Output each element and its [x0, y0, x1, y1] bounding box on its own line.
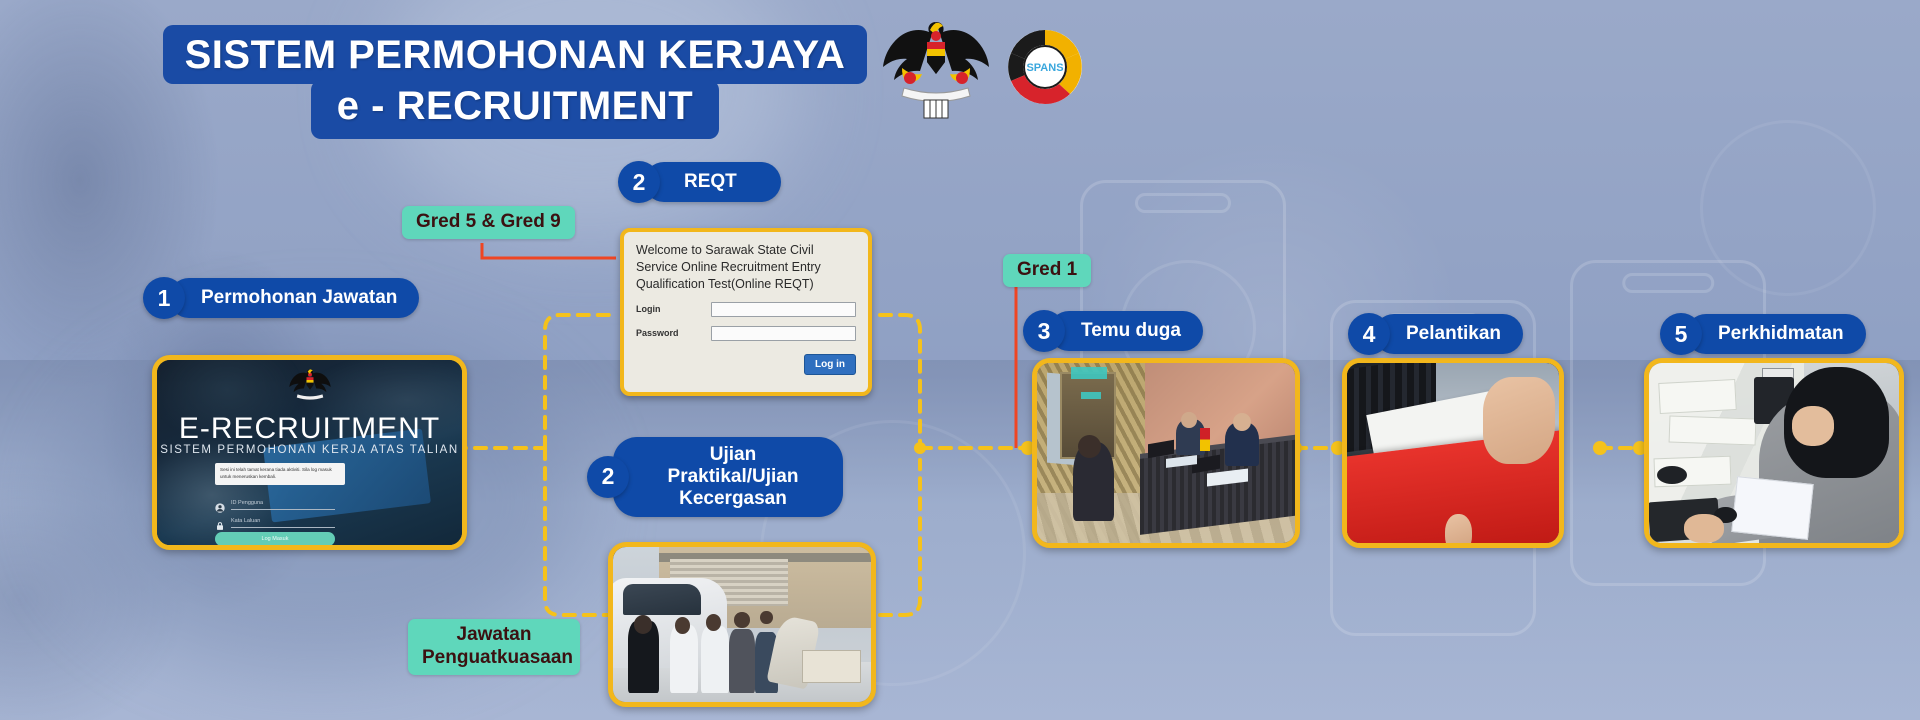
tag-gred-1: Gred 1: [1003, 254, 1091, 287]
reqt-login-button[interactable]: Log in: [804, 354, 856, 375]
erecruitment-user-field[interactable]: ID Pengguna: [215, 500, 335, 510]
erecruitment-password-placeholder: Kata Laluan: [231, 518, 335, 528]
step-label-ujian-praktikal: Ujian Praktikal/Ujian Kecergasan: [613, 437, 843, 517]
step-pill-1[interactable]: 1 Permohonan Jawatan: [143, 277, 419, 319]
user-icon: [215, 500, 225, 510]
practical-test-photo: [613, 547, 871, 702]
card-erecruitment[interactable]: E-RECRUITMENT SISTEM PERMOHONAN KERJA AT…: [152, 355, 467, 550]
offer-letter-thumb: [1445, 514, 1473, 548]
reqt-password-label: Password: [636, 328, 711, 338]
step-pill-2-reqt[interactable]: 2 REQT: [618, 161, 781, 203]
step-label-reqt: REQT: [644, 162, 781, 202]
sarawak-crest-icon: [880, 8, 992, 126]
step-label-pelantikan: Pelantikan: [1374, 314, 1523, 354]
tag-gred-5-9: Gred 5 & Gred 9: [402, 206, 575, 239]
step-pill-5[interactable]: 5 Perkhidmatan: [1660, 313, 1866, 355]
page-title-line-1: SISTEM PERMOHONAN KERJAYA: [163, 25, 868, 84]
service-officer-face: [1792, 406, 1835, 446]
step-label-perkhidmatan: Perkhidmatan: [1686, 314, 1866, 354]
card-offer-letter[interactable]: WE LETTER OF OFFER OF EMPLOYMENT JOB OFF…: [1342, 358, 1564, 548]
erecruitment-screenshot: E-RECRUITMENT SISTEM PERMOHONAN KERJA AT…: [157, 360, 462, 545]
service-officer-hand: [1684, 514, 1724, 543]
service-mouse: [1657, 466, 1687, 484]
interview-panelist-1-head: [1181, 412, 1196, 428]
reqt-login-panel[interactable]: Welcome to Sarawak State Civil Service O…: [620, 228, 872, 396]
step-label-permohonan-jawatan: Permohonan Jawatan: [169, 278, 419, 318]
logo-group: SPANS: [880, 8, 1084, 126]
offer-letter-photo: WE LETTER OF OFFER OF EMPLOYMENT JOB OFF…: [1347, 363, 1559, 543]
service-paper-stack-1: [1658, 379, 1737, 414]
step-pill-4[interactable]: 4 Pelantikan: [1348, 313, 1523, 355]
service-document: [1731, 476, 1813, 540]
practical-person-4: [729, 629, 755, 693]
spans-logo-text: SPANS: [1026, 62, 1063, 74]
infographic-canvas: SISTEM PERMOHONAN KERJAYA e - RECRUITMEN…: [0, 0, 1920, 720]
step-pill-3[interactable]: 3 Temu duga: [1023, 310, 1203, 352]
background-circle-3: [1700, 120, 1876, 296]
step-number-5: 5: [1660, 313, 1702, 355]
page-title-line-2: e - RECRUITMENT: [311, 80, 719, 139]
practical-person-head-4: [734, 612, 749, 628]
card-interview[interactable]: [1032, 358, 1300, 548]
step-label-temu-duga: Temu duga: [1049, 311, 1203, 351]
erecruitment-password-field[interactable]: Kata Laluan: [215, 518, 335, 528]
service-paper-stack-2: [1669, 415, 1757, 445]
erecruitment-subtitle: SISTEM PERMOHONAN KERJA ATAS TALIAN: [157, 444, 462, 456]
practical-person-head-3: [706, 614, 721, 631]
reqt-password-input[interactable]: [711, 326, 856, 341]
practical-person-head-1: [634, 615, 652, 634]
page-title: SISTEM PERMOHONAN KERJAYA e - RECRUITMEN…: [150, 25, 880, 139]
reqt-password-row: Password: [636, 326, 856, 341]
step-number-3: 3: [1023, 310, 1065, 352]
service-photo: [1649, 363, 1899, 543]
erecruitment-title: E-RECRUITMENT: [157, 412, 462, 446]
interview-photo: [1037, 363, 1295, 543]
interview-flag: [1200, 428, 1210, 451]
reqt-login-row: Login: [636, 302, 856, 317]
erecruitment-user-placeholder: ID Pengguna: [231, 500, 335, 510]
interview-teal-sign-2: [1081, 392, 1102, 399]
erecruitment-session-notice: Sesi ini telah tamat kerana tiada aktivi…: [215, 463, 345, 485]
erecruitment-login-button[interactable]: Log Masuk: [215, 532, 335, 546]
step-number-1: 1: [143, 277, 185, 319]
step-number-2-ujian: 2: [587, 456, 629, 498]
card-service[interactable]: [1644, 358, 1904, 548]
spans-logo-icon: SPANS: [1006, 28, 1084, 106]
practical-vehicle-window: [623, 584, 700, 615]
offer-letter-hand: [1483, 377, 1555, 463]
erecruitment-crest-icon: [287, 364, 333, 415]
practical-person-2: [670, 625, 698, 693]
tag-jawatan-penguatkuasaan: Jawatan Penguatkuasaan: [408, 619, 580, 675]
step-number-2-reqt: 2: [618, 161, 660, 203]
reqt-login-input[interactable]: [711, 302, 856, 317]
reqt-login-label: Login: [636, 304, 711, 314]
interview-teal-sign: [1071, 367, 1107, 380]
practical-person-head-2: [675, 617, 690, 634]
step-number-4: 4: [1348, 313, 1390, 355]
practical-table: [802, 650, 861, 683]
reqt-welcome-text: Welcome to Sarawak State Civil Service O…: [636, 242, 856, 293]
card-practical-test[interactable]: [608, 542, 876, 707]
practical-person-3: [701, 626, 729, 693]
step-pill-2-ujian[interactable]: 2 Ujian Praktikal/Ujian Kecergasan: [587, 437, 843, 517]
lock-icon: [215, 518, 225, 528]
